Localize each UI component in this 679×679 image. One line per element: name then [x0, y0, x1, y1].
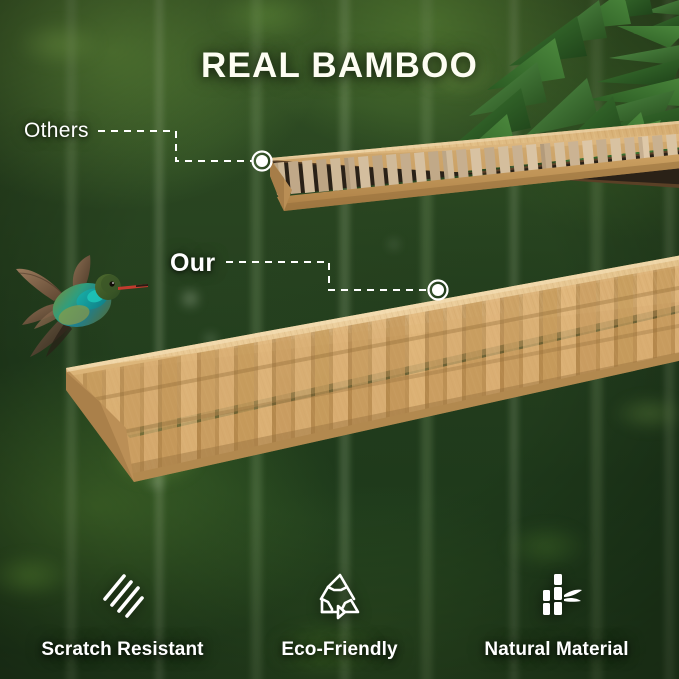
hummingbird	[4, 243, 149, 368]
feature-label: Natural Material	[484, 639, 628, 661]
scratch-lines-icon	[94, 568, 152, 626]
feature-scratch-resistant: Scratch Resistant	[14, 568, 231, 661]
recycle-icon	[311, 568, 369, 626]
others-bamboo-board	[240, 118, 679, 268]
callout-label-our: Our	[170, 249, 215, 278]
feature-eco-friendly: Eco-Friendly	[231, 568, 448, 661]
others-circle-marker[interactable]	[248, 147, 276, 175]
page-title: REAL BAMBOO	[0, 46, 679, 86]
bamboo-stalk-icon	[528, 568, 586, 626]
feature-label: Scratch Resistant	[41, 639, 203, 661]
product-infographic: REAL BAMBOO Others Our	[0, 0, 679, 679]
feature-natural-material: Natural Material	[448, 568, 665, 661]
feature-label: Eco-Friendly	[281, 639, 397, 661]
callout-label-others: Others	[24, 119, 89, 143]
our-circle-marker[interactable]	[424, 276, 452, 304]
feature-list: Scratch Resistant Eco-Friendly	[0, 568, 679, 661]
